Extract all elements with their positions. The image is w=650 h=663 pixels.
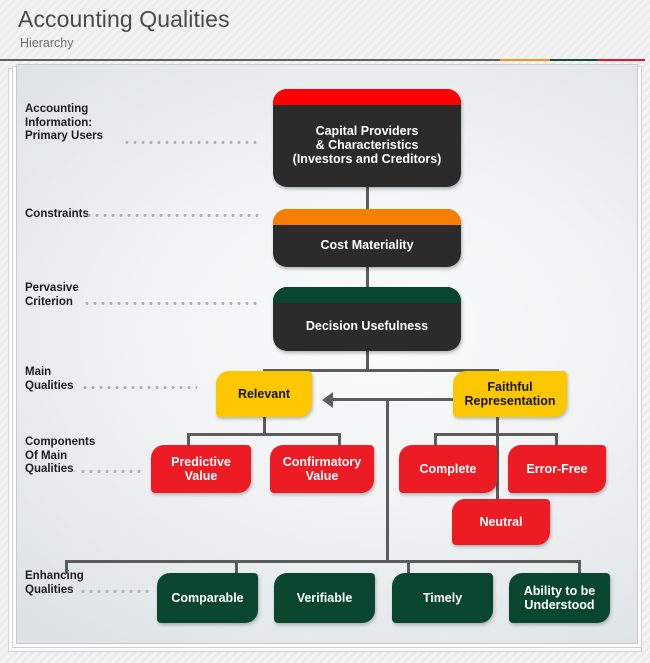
diagram-panel: Accounting Information: Primary Users Co… [16, 64, 638, 644]
node-neutral-label: Neutral [479, 515, 522, 529]
header-color-rule [0, 59, 650, 61]
row-label-constraints: Constraints [25, 208, 89, 222]
row-label-pervasive-criterion: Pervasive Criterion [25, 282, 79, 309]
node-ability-to-be-understood[interactable]: Ability to be Understood [509, 573, 610, 623]
node-cap-green [273, 287, 461, 303]
leader-dots-pervasive-criterion [83, 302, 261, 305]
node-timely-label: Timely [423, 591, 462, 605]
node-capital-providers-label: Capital Providers & Characteristics (Inv… [293, 110, 442, 166]
node-cost-materiality[interactable]: Cost Materiality [273, 209, 461, 267]
node-cost-materiality-label: Cost Materiality [320, 224, 413, 252]
connector-cost-to-decision [366, 267, 369, 287]
node-neutral[interactable]: Neutral [452, 499, 550, 545]
connector-users-to-cost [366, 187, 369, 209]
row-label-primary-users: Accounting Information: Primary Users [25, 103, 103, 144]
node-faithful-representation-label: Faithful Representation [465, 380, 556, 408]
node-confirmatory-value-label: Confirmatory Value [283, 455, 361, 483]
slide-header: Accounting Qualities Hierarchy [0, 0, 650, 58]
node-complete[interactable]: Complete [399, 445, 497, 493]
node-timely[interactable]: Timely [392, 573, 493, 623]
node-verifiable[interactable]: Verifiable [274, 573, 375, 623]
connector-enhancing-bar [65, 560, 581, 563]
connector-to-confirmatory-value [338, 433, 341, 445]
arrow-head-left-icon [322, 392, 333, 408]
node-cap-red [273, 89, 461, 105]
node-capital-providers[interactable]: Capital Providers & Characteristics (Inv… [273, 89, 461, 187]
row-label-main-qualities: Main Qualities [25, 366, 74, 393]
connector-to-timely [407, 560, 410, 574]
row-label-enhancing: Enhancing Qualities [25, 570, 84, 597]
node-verifiable-label: Verifiable [297, 591, 353, 605]
page-title: Accounting Qualities [18, 6, 230, 33]
node-complete-label: Complete [420, 462, 477, 476]
node-predictive-value[interactable]: Predictive Value [151, 445, 251, 493]
leader-dots-primary-users [123, 141, 261, 144]
node-relevant-label: Relevant [238, 387, 290, 401]
node-cap-orange [273, 209, 461, 225]
node-relevant[interactable]: Relevant [216, 371, 312, 417]
node-ability-to-be-understood-label: Ability to be Understood [524, 584, 596, 612]
connector-to-complete [434, 433, 437, 445]
rule-segment-green [550, 59, 598, 61]
connector-decision-to-split [366, 351, 369, 371]
node-faithful-representation[interactable]: Faithful Representation [453, 371, 567, 417]
node-confirmatory-value[interactable]: Confirmatory Value [270, 445, 374, 493]
node-comparable-label: Comparable [171, 591, 243, 605]
leader-dots-main-qualities [81, 386, 197, 389]
node-comparable[interactable]: Comparable [157, 573, 258, 623]
connector-to-verifiable [235, 560, 238, 574]
node-decision-usefulness-label: Decision Usefulness [306, 305, 428, 333]
leader-dots-constraints [85, 214, 261, 217]
connector-relevant-faithful-line [333, 398, 453, 401]
leader-dots-components [79, 470, 143, 473]
node-predictive-value-label: Predictive Value [171, 455, 231, 483]
connector-center-drop-to-enhancing [386, 399, 389, 562]
rule-segment-red [598, 59, 645, 61]
node-decision-usefulness[interactable]: Decision Usefulness [273, 287, 461, 351]
node-error-free-label: Error-Free [526, 462, 587, 476]
connector-to-error-free [555, 433, 558, 445]
page-subtitle: Hierarchy [20, 36, 74, 50]
rule-segment-orange [500, 59, 550, 61]
rule-segment-gray [0, 59, 500, 61]
slide-canvas: Accounting Qualities Hierarchy Accountin… [0, 0, 650, 663]
connector-to-comparable [65, 560, 68, 574]
node-error-free[interactable]: Error-Free [508, 445, 606, 493]
connector-to-ability [578, 560, 581, 574]
connector-relevant-children-bar [187, 433, 341, 436]
leader-dots-enhancing [79, 590, 149, 593]
connector-to-predictive-value [187, 433, 190, 445]
